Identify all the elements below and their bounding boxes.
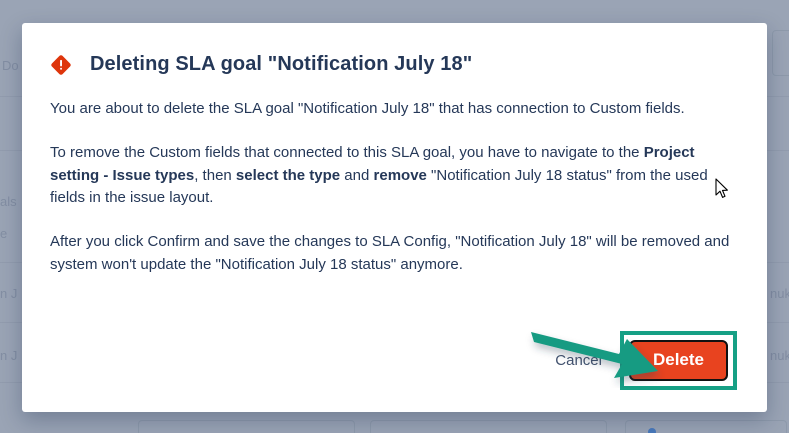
background-text-fragment: nuk bbox=[770, 348, 789, 363]
background-text-fragment: Do bbox=[2, 58, 19, 73]
dialog-header: Deleting SLA goal "Notification July 18" bbox=[22, 23, 767, 76]
background-text-fragment: e bbox=[0, 226, 7, 241]
delete-button[interactable]: Delete bbox=[629, 340, 728, 381]
dialog-paragraph-2: To remove the Custom fields that connect… bbox=[50, 142, 739, 210]
warning-diamond-icon bbox=[50, 54, 72, 76]
background-text-fragment: n J bbox=[0, 348, 17, 363]
background-text-fragment: n J bbox=[0, 286, 17, 301]
dialog-title: Deleting SLA goal "Notification July 18" bbox=[90, 52, 472, 76]
dialog-paragraph-3: After you click Confirm and save the cha… bbox=[50, 231, 739, 277]
background-status-dot bbox=[648, 428, 656, 433]
background-field-outline bbox=[370, 420, 607, 433]
background-text-fragment: als bbox=[0, 194, 17, 209]
dialog-paragraph-1: You are about to delete the SLA goal "No… bbox=[50, 98, 739, 121]
dialog-body: You are about to delete the SLA goal "No… bbox=[22, 76, 767, 277]
background-field-outline bbox=[138, 420, 355, 433]
dialog-footer: Cancel Delete bbox=[543, 331, 737, 390]
background-button-outline bbox=[772, 30, 789, 76]
delete-button-highlight: Delete bbox=[620, 331, 737, 390]
background-text-fragment: nuk bbox=[770, 286, 789, 301]
cancel-button[interactable]: Cancel bbox=[543, 344, 614, 377]
delete-sla-goal-dialog: Deleting SLA goal "Notification July 18"… bbox=[22, 23, 767, 412]
